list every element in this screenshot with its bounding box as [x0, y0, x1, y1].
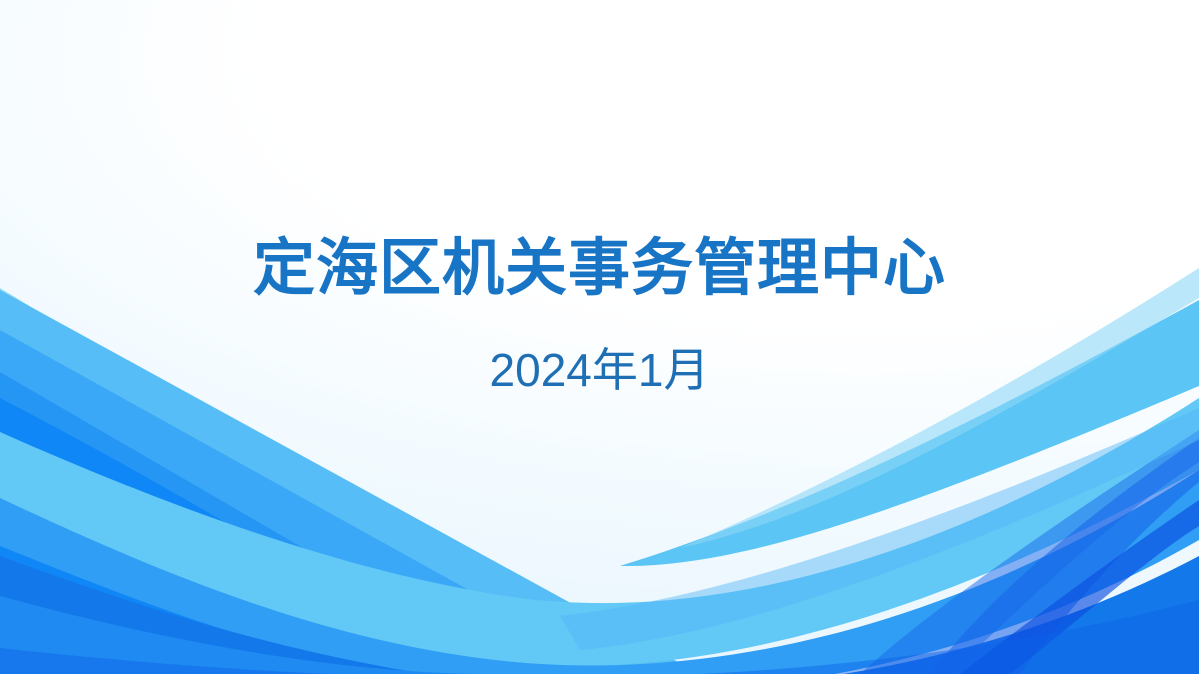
title-block: 定海区机关事务管理中心 2024年1月: [0, 236, 1199, 396]
page-subtitle: 2024年1月: [0, 303, 1199, 396]
page-title: 定海区机关事务管理中心: [0, 236, 1199, 303]
presentation-slide: 定海区机关事务管理中心 2024年1月: [0, 0, 1199, 674]
